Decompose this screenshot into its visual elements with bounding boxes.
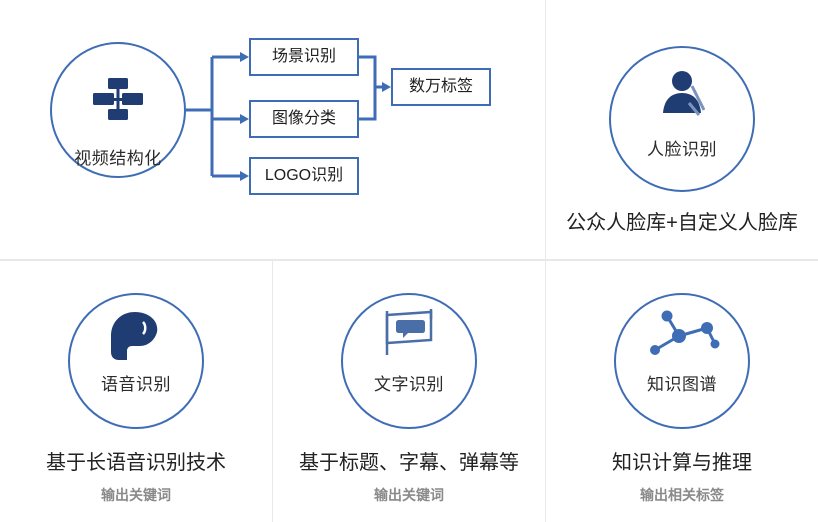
subcaption-text-recognition: 输出关键词 bbox=[273, 485, 545, 505]
circle-face-recognition-label: 人脸识别 bbox=[609, 135, 755, 160]
circle-text-recognition-label: 文字识别 bbox=[341, 370, 477, 395]
caption-knowledge-graph: 知识计算与推理 bbox=[546, 446, 818, 475]
video-structure-icon bbox=[93, 78, 143, 120]
head-profile-icon bbox=[109, 312, 163, 367]
circle-speech-recognition-label: 语音识别 bbox=[68, 370, 204, 395]
box-image-classification[interactable]: 图像分类 bbox=[249, 100, 359, 138]
panel-video-structuring: 视频结构化 场景识别 图像分类 LOGO识别 数万标签 bbox=[0, 0, 545, 259]
circle-knowledge-graph-label: 知识图谱 bbox=[614, 370, 750, 395]
box-tens-of-thousands-tags[interactable]: 数万标签 bbox=[391, 68, 491, 106]
caption-speech-recognition: 基于长语音识别技术 bbox=[0, 446, 272, 475]
subcaption-knowledge-graph: 输出相关标签 bbox=[546, 485, 818, 505]
circle-video-structuring-label: 视频结构化 bbox=[50, 144, 186, 169]
graph-nodes-icon bbox=[645, 310, 721, 365]
box-logo-recognition[interactable]: LOGO识别 bbox=[249, 157, 359, 195]
box-scene-recognition[interactable]: 场景识别 bbox=[249, 38, 359, 76]
caption-face-recognition: 公众人脸库+自定义人脸库 bbox=[546, 206, 818, 235]
person-face-icon bbox=[659, 70, 705, 127]
diagram-page: 视频结构化 场景识别 图像分类 LOGO识别 数万标签 人脸识别 公众人脸库+自… bbox=[0, 0, 818, 522]
text-banner-icon bbox=[381, 309, 437, 362]
subcaption-speech-recognition: 输出关键词 bbox=[0, 485, 272, 505]
caption-text-recognition: 基于标题、字幕、弹幕等 bbox=[273, 446, 545, 475]
